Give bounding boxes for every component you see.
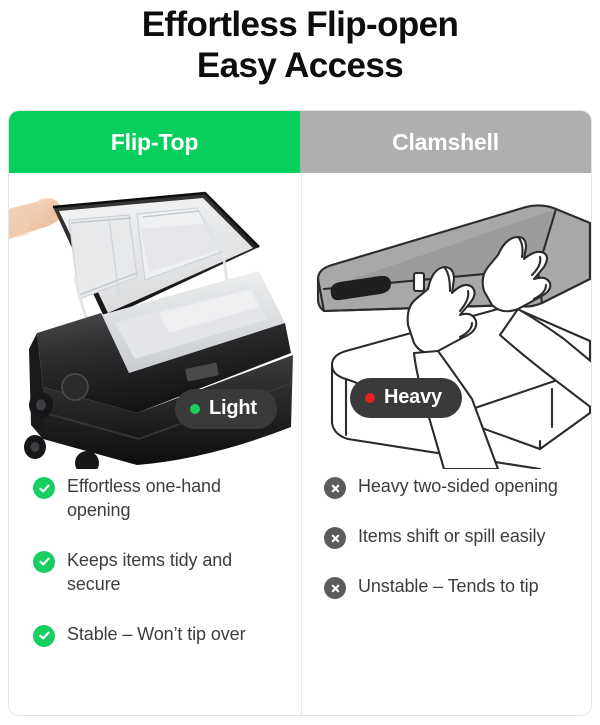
comparison-body: Light Effortless one-hand opening — [9, 173, 591, 715]
list-item: Unstable – Tends to tip — [324, 575, 577, 599]
list-item-label: Items shift or spill easily — [358, 525, 545, 549]
clamshell-illustration: Heavy — [302, 173, 592, 469]
cross-icon — [324, 527, 346, 549]
clamshell-feature-list: Heavy two-sided opening Items shift or s… — [302, 469, 592, 599]
column-clamshell: Heavy Heavy two-sided opening I — [301, 173, 592, 715]
list-item: Items shift or spill easily — [324, 525, 577, 549]
column-header-flip-top: Flip-Top — [9, 111, 300, 173]
list-item-label: Keeps items tidy and secure — [67, 549, 285, 597]
status-badge-heavy-label: Heavy — [384, 386, 442, 409]
flip-top-feature-list: Effortless one-hand opening Keeps items … — [9, 469, 301, 647]
cross-icon — [324, 477, 346, 499]
page-title: Effortless Flip-open Easy Access — [0, 0, 600, 87]
check-icon — [33, 477, 55, 499]
list-item: Keeps items tidy and secure — [33, 549, 285, 597]
status-dot-light — [190, 404, 200, 414]
list-item: Stable – Won’t tip over — [33, 623, 285, 647]
list-item-label: Stable – Won’t tip over — [67, 623, 245, 647]
check-icon — [33, 625, 55, 647]
status-badge-heavy: Heavy — [350, 378, 462, 418]
comparison-card: Flip-Top Clamshell — [8, 110, 592, 716]
column-header-clamshell: Clamshell — [300, 111, 591, 173]
status-badge-light: Light — [175, 389, 277, 429]
comparison-header-row: Flip-Top Clamshell — [9, 111, 591, 173]
column-flip-top: Light Effortless one-hand opening — [9, 173, 301, 715]
flip-top-illustration: Light — [9, 173, 301, 469]
check-icon — [33, 551, 55, 573]
status-badge-light-label: Light — [209, 397, 257, 420]
page-title-line-2: Easy Access — [20, 45, 580, 86]
suitcase-clamshell-image — [302, 173, 592, 469]
comparison-infographic: Effortless Flip-open Easy Access Flip-To… — [0, 0, 600, 725]
list-item-label: Heavy two-sided opening — [358, 475, 558, 499]
list-item: Heavy two-sided opening — [324, 475, 577, 499]
list-item-label: Unstable – Tends to tip — [358, 575, 539, 599]
page-title-line-1: Effortless Flip-open — [20, 4, 580, 45]
cross-icon — [324, 577, 346, 599]
list-item-label: Effortless one-hand opening — [67, 475, 285, 523]
status-dot-heavy — [365, 393, 375, 403]
list-item: Effortless one-hand opening — [33, 475, 285, 523]
